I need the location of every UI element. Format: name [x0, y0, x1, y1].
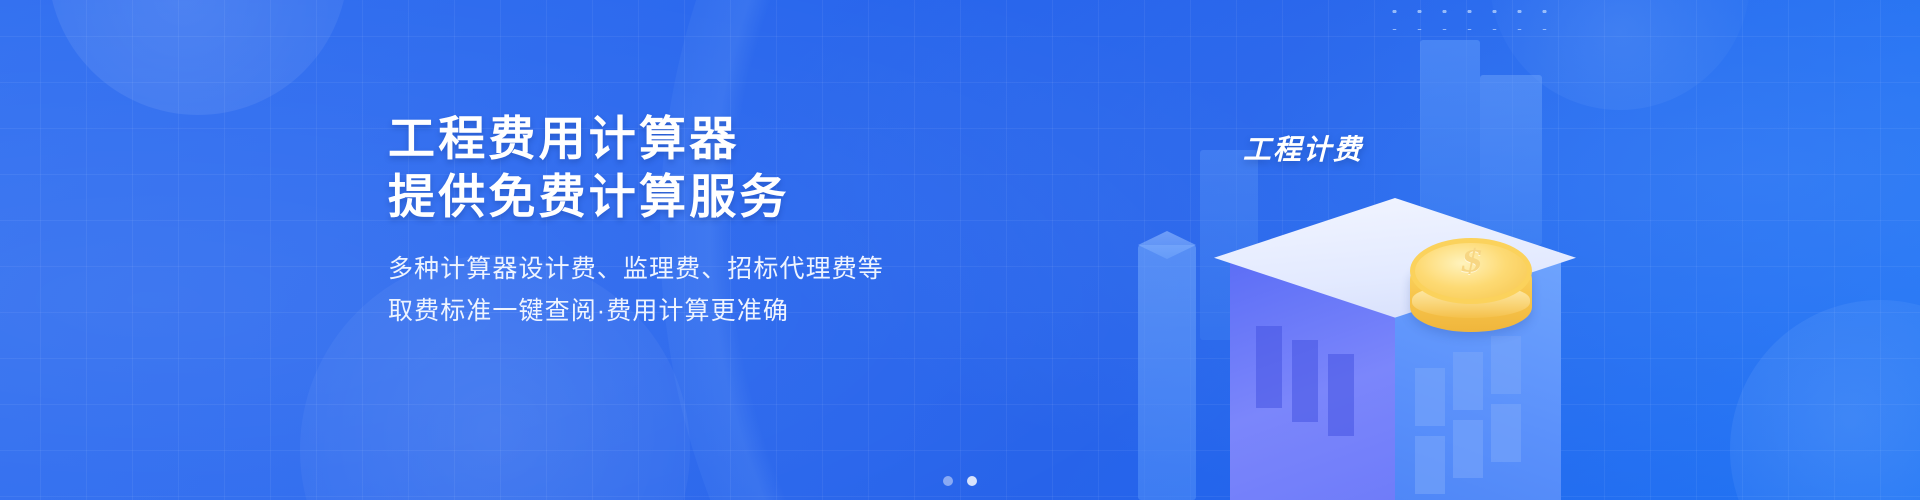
decorative-bar-front-left — [1138, 245, 1196, 500]
isometric-building-icon: $ — [1230, 240, 1560, 500]
headline-line-2: 提供免费计算服务 — [388, 168, 1008, 226]
hero-banner: 工程费用计算器 提供免费计算服务 多种计算器设计费、监理费、招标代理费等 取费标… — [0, 0, 1920, 500]
subtitle-line-1: 多种计算器设计费、监理费、招标代理费等 — [388, 255, 884, 283]
subtitle-line-2: 取费标准一键查阅·费用计算更准确 — [388, 290, 1008, 332]
decorative-bar-back-right — [1420, 40, 1480, 230]
banner-illustration: $ 工程计费 — [1080, 0, 1840, 500]
carousel-dot-2[interactable] — [967, 476, 977, 486]
illustration-badge-label: 工程计费 — [1243, 128, 1363, 168]
carousel-dot-1[interactable] — [943, 476, 953, 486]
gold-coin-icon: $ — [1402, 228, 1542, 358]
carousel-indicators[interactable] — [0, 476, 1920, 486]
banner-subtitle: 多种计算器设计费、监理费、招标代理费等 取费标准一键查阅·费用计算更准确 — [388, 248, 1008, 332]
decorative-bar-back-far-right — [1480, 75, 1542, 245]
banner-headline: 工程费用计算器 提供免费计算服务 — [388, 110, 1008, 226]
headline-line-1: 工程费用计算器 — [388, 112, 739, 165]
banner-copy: 工程费用计算器 提供免费计算服务 多种计算器设计费、监理费、招标代理费等 取费标… — [388, 110, 1008, 332]
decorative-circle-top-left — [48, 0, 348, 115]
dollar-sign-icon: $ — [1399, 249, 1544, 274]
